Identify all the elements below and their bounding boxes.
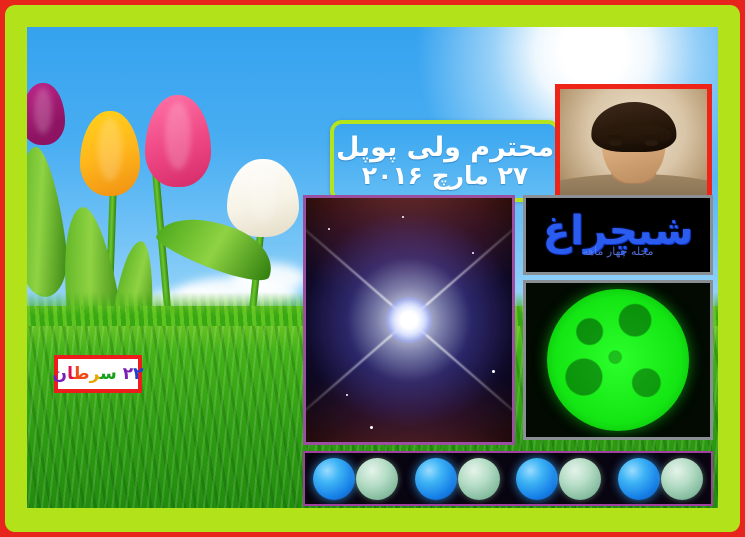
logo-subtitle: مجله چهار ماهه [582,245,653,258]
nebula-star-panel [303,195,515,445]
date-badge-text: ۲۲ سرطان [53,366,144,383]
background-star [472,252,474,254]
logo-title: شبچراغ [543,213,693,249]
portrait-photo [555,84,712,213]
title-plate: محترم ولی پوپل ۲۷ مارچ ۲۰۱۶ [330,120,560,202]
date-badge-char: ط [73,364,89,384]
portrait-eye-right [645,140,658,145]
poster-canvas: محترم ولی پوپل ۲۷ مارچ ۲۰۱۶ [27,27,718,508]
orb-pale [559,458,601,500]
poster-outer-border: محترم ولی پوپل ۲۷ مارچ ۲۰۱۶ [0,0,745,537]
sphere-strip [303,451,713,506]
orb-pale [661,458,703,500]
background-star [402,216,404,218]
date-badge-char: س [100,364,117,384]
green-moon-panel [523,280,713,440]
background-star [346,394,348,396]
title-line-date: ۲۷ مارچ ۲۰۱۶ [362,162,528,189]
orb-blue [415,458,457,500]
date-badge-char: ن [53,364,68,384]
title-line-name: محترم ولی پوپل [336,133,554,162]
portrait-eye-left [609,140,622,145]
date-badge: ۲۲ سرطان [54,355,142,393]
star-core [386,297,432,343]
magazine-logo-plate: شبچراغ مجله چهار ماهه [523,195,713,275]
portrait-eyebrow-right [644,135,660,138]
sphere-pair [305,453,407,504]
date-badge-char: ۲ [133,364,143,384]
orb-blue [313,458,355,500]
sphere-pair [407,453,509,504]
sphere-pair [508,453,610,504]
moon-disc [547,289,689,431]
portrait-eyebrow-left [607,135,623,138]
orb-blue [516,458,558,500]
date-badge-char: ر [89,364,100,384]
sphere-pair [610,453,712,504]
orb-blue [618,458,660,500]
poster-green-mat: محترم ولی پوپل ۲۷ مارچ ۲۰۱۶ [5,5,740,532]
background-star [328,228,330,230]
orb-pale [356,458,398,500]
background-star [370,426,373,429]
date-badge-char: ۲ [123,364,133,384]
background-star [492,370,495,373]
orb-pale [458,458,500,500]
